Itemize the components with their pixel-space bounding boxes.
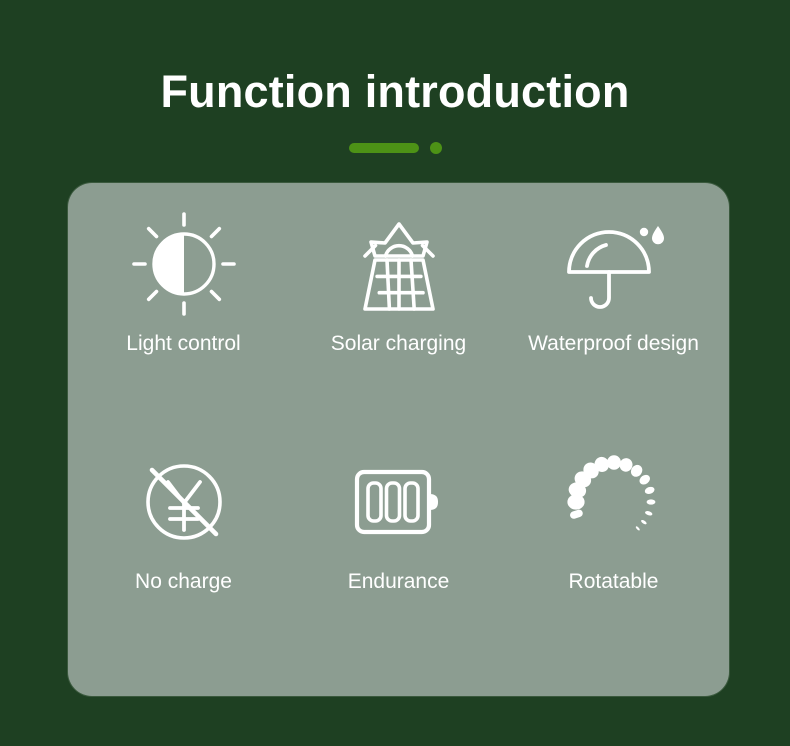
no-charge-yen-icon bbox=[129, 447, 239, 557]
page-root: Function introduction bbox=[0, 0, 790, 746]
feature-label: Waterproof design bbox=[528, 331, 699, 357]
sun-half-icon bbox=[129, 209, 239, 319]
feature-item-rotatable[interactable]: Rotatable bbox=[506, 443, 721, 677]
rotate-arc-icon bbox=[559, 447, 669, 557]
carousel-indicator-dot[interactable] bbox=[430, 142, 442, 154]
feature-label: Endurance bbox=[348, 569, 450, 595]
feature-item-no-charge[interactable]: No charge bbox=[76, 443, 291, 677]
battery-full-icon bbox=[344, 447, 454, 557]
feature-label: Solar charging bbox=[331, 331, 466, 357]
carousel-indicator[interactable] bbox=[0, 142, 790, 154]
feature-item-solar-charging[interactable]: Solar charging bbox=[291, 209, 506, 443]
feature-item-waterproof-design[interactable]: Waterproof design bbox=[506, 209, 721, 443]
feature-label: No charge bbox=[135, 569, 232, 595]
feature-card: Light control bbox=[68, 183, 729, 696]
umbrella-rain-icon bbox=[559, 209, 669, 319]
solar-panel-icon bbox=[344, 209, 454, 319]
carousel-indicator-active-bar[interactable] bbox=[349, 143, 419, 153]
feature-grid: Light control bbox=[68, 183, 729, 696]
feature-label: Light control bbox=[126, 331, 240, 357]
page-title: Function introduction bbox=[0, 63, 790, 121]
feature-item-endurance[interactable]: Endurance bbox=[291, 443, 506, 677]
feature-item-light-control[interactable]: Light control bbox=[76, 209, 291, 443]
feature-label: Rotatable bbox=[569, 569, 659, 595]
